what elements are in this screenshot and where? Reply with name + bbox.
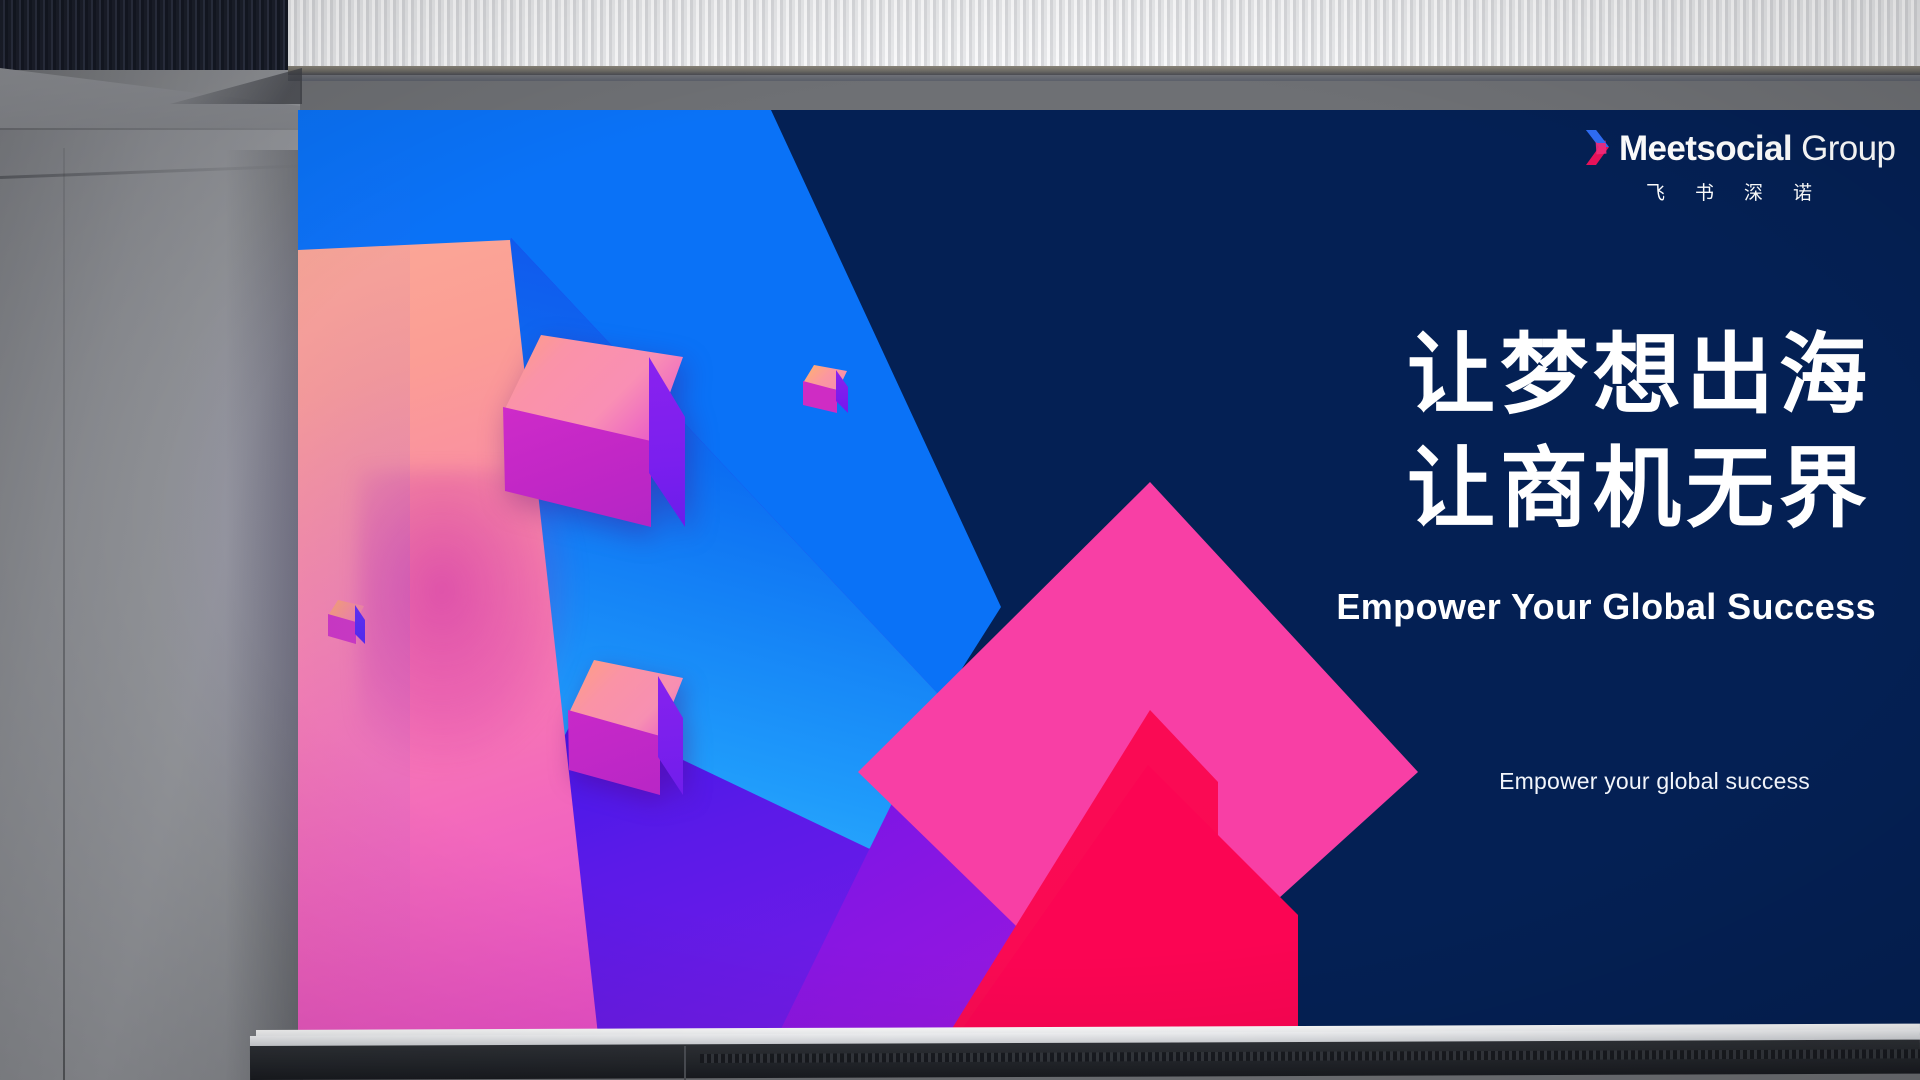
ceiling-slats-dark <box>0 0 300 70</box>
wall-shadow <box>225 150 303 1080</box>
cube-face-side <box>355 604 373 644</box>
wall-seam-vertical <box>63 148 65 1080</box>
brand-logo-block: Meetsocial Group 飞 书 深 诺 <box>1584 128 1874 205</box>
brand-wordmark-secondary: Group <box>1801 129 1895 168</box>
artwork-cube-small <box>328 600 372 644</box>
ceiling-slats-light <box>288 0 1920 68</box>
scene-photo: Meetsocial Group 飞 书 深 诺 让梦想出海 让商机无界 Emp… <box>0 0 1920 1080</box>
meetsocial-m-chevron-icon <box>1584 128 1612 168</box>
cube-face-side <box>658 674 704 795</box>
headline-line-1: 让梦想出海 <box>892 318 1872 432</box>
billboard-headline: 让梦想出海 让商机无界 <box>892 318 1872 547</box>
ceiling-rail-shadow <box>288 75 1920 81</box>
cube-face-side <box>836 369 858 413</box>
artwork-cube-large <box>503 335 713 525</box>
wall-seam-horizontal <box>0 128 300 130</box>
artwork-cube-medium <box>568 660 698 795</box>
artwork-cube-tiny <box>803 365 855 413</box>
led-billboard-screen: Meetsocial Group 飞 书 深 诺 让梦想出海 让商机无界 Emp… <box>298 110 1920 1035</box>
ceiling-rail <box>288 66 1920 75</box>
billboard-tagline: Empower Your Global Success <box>896 586 1876 628</box>
brand-wordmark: Meetsocial Group <box>1619 131 1895 166</box>
brand-wordmark-primary: Meetsocial <box>1619 129 1792 168</box>
headline-line-2: 让商机无界 <box>892 432 1872 546</box>
brand-wordmark-chinese: 飞 书 深 诺 <box>1584 178 1874 205</box>
plinth-seam <box>684 1046 686 1080</box>
cube-face-side <box>649 355 717 527</box>
billboard-footnote: Empower your global success <box>910 768 1810 795</box>
